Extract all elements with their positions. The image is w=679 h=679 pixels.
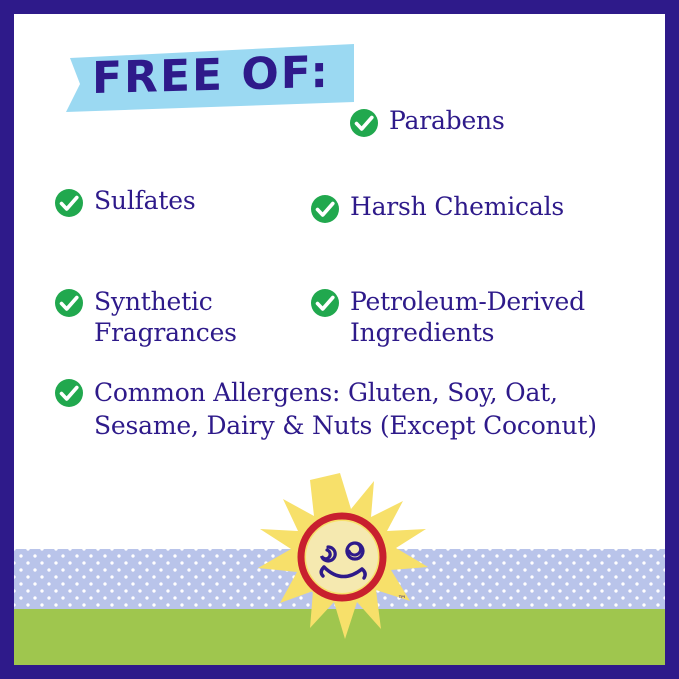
card-inner: FREE OF: Parabens Sulfates Harsh Chemica…: [14, 14, 665, 665]
claim-label-line2: Ingredients: [350, 318, 494, 347]
claim-label-line2: Sesame, Dairy & Nuts (Except Coconut): [94, 411, 597, 440]
check-circle-icon: [310, 288, 340, 318]
check-circle-icon: [310, 194, 340, 224]
check-circle-icon: [54, 378, 84, 408]
claim-label-group: Common Allergens: Gluten, Soy, Oat, Sesa…: [94, 376, 597, 442]
claim-label-line2: Fragrances: [94, 318, 237, 347]
claim-item-harsh-chemicals: Harsh Chemicals: [310, 192, 564, 224]
product-claims-card: FREE OF: Parabens Sulfates Harsh Chemica…: [0, 0, 679, 679]
claim-item-sulfates: Sulfates: [54, 186, 195, 218]
claim-label-line1: Petroleum-Derived: [350, 287, 585, 316]
claim-label-group: Petroleum-Derived Ingredients: [350, 286, 585, 348]
claim-item-parabens: Parabens: [349, 106, 505, 138]
banner-title: FREE OF:: [92, 45, 330, 107]
claim-label: Harsh Chemicals: [350, 192, 564, 222]
claim-label: Sulfates: [94, 186, 195, 216]
claim-item-petroleum-derived: Petroleum-Derived Ingredients: [310, 286, 585, 348]
check-circle-icon: [349, 108, 379, 138]
claim-label-line1: Synthetic: [94, 287, 213, 316]
sun-face-logo: [250, 471, 430, 641]
claim-item-common-allergens: Common Allergens: Gluten, Soy, Oat, Sesa…: [54, 376, 634, 442]
trademark-symbol: ™: [398, 595, 407, 605]
check-circle-icon: [54, 288, 84, 318]
free-of-banner: FREE OF:: [64, 42, 354, 114]
claim-label: Parabens: [389, 106, 505, 136]
claim-label-line1: Common Allergens: Gluten, Soy, Oat,: [94, 378, 558, 407]
claim-item-synthetic-fragrances: Synthetic Fragrances: [54, 286, 237, 348]
check-circle-icon: [54, 188, 84, 218]
claim-label-group: Synthetic Fragrances: [94, 286, 237, 348]
